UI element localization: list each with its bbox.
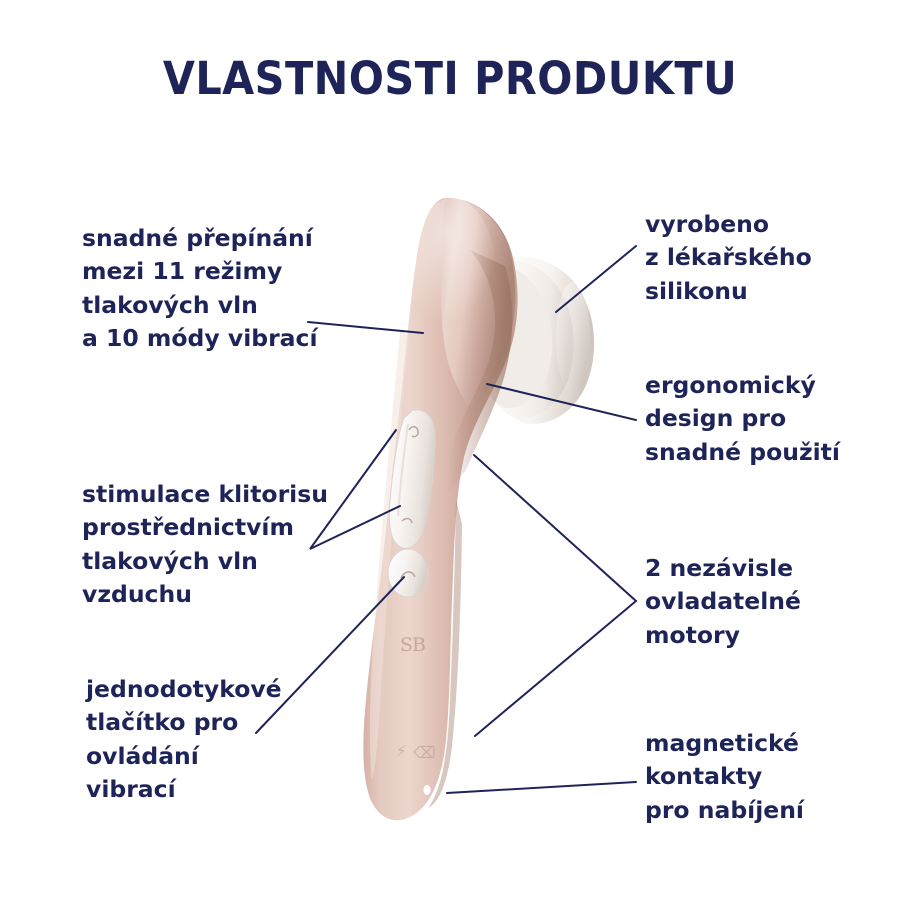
compliance-emboss: ⚡ ⌫ (396, 742, 436, 762)
callout-motors: 2 nezávisle ovladatelné motory (645, 552, 801, 652)
callout-ergonomic: ergonomický design pro snadné použití (645, 369, 840, 469)
product-body: SB ⚡ ⌫ (363, 198, 594, 820)
head-gloss (408, 198, 496, 346)
svg-text:⚡: ⚡ (396, 742, 407, 760)
leader-line-magnetic (447, 782, 636, 793)
leader-line-motors (474, 455, 636, 736)
leader-line-modes (308, 322, 423, 333)
brand-emboss: SB (400, 634, 425, 656)
svg-text:⌫: ⌫ (412, 743, 436, 762)
callout-silicone: vyrobeno z lékařského silikonu (645, 208, 812, 308)
callout-magnetic: magnetické kontakty pro nabíjení (645, 727, 804, 827)
product-features-infographic: VLASTNOSTI PRODUKTU (0, 0, 900, 900)
callout-modes: snadné přepínání mezi 11 režimy tlakovýc… (82, 222, 318, 355)
callout-stimulace: stimulace klitorisu prostřednictvím tlak… (82, 478, 328, 611)
vibration-button[interactable] (388, 549, 428, 597)
magnetic-contact-dot-left (423, 785, 430, 795)
callout-onetouch: jednodotykové tlačítko pro ovládání vibr… (86, 673, 282, 806)
